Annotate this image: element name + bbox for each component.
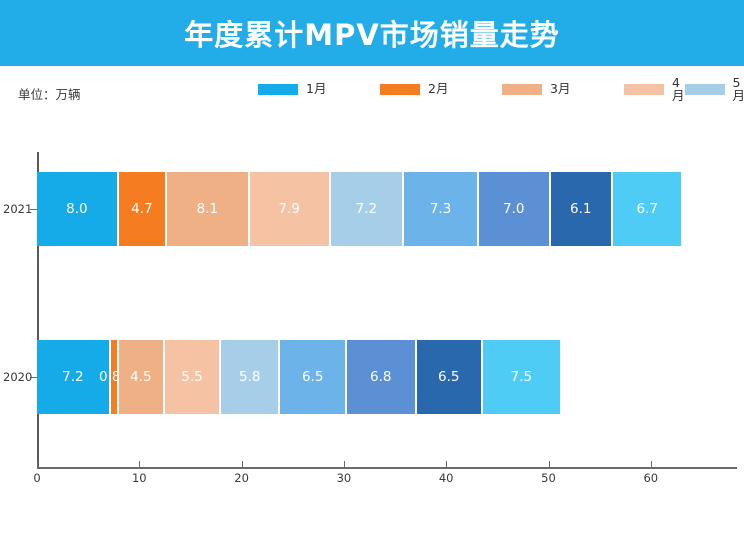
x-axis-tick-label: 10 <box>132 471 147 485</box>
x-axis-tick-label: 60 <box>643 471 658 485</box>
bar-segment-value: 6.8 <box>370 369 391 385</box>
bar-segment[interactable]: 4.5 <box>119 340 165 414</box>
bar-segment-value: 5.5 <box>181 369 202 385</box>
plot-area: 010203040506020212020 8.04.78.17.97.27.3… <box>0 0 744 558</box>
bar-segment[interactable]: 7.3 <box>404 172 479 246</box>
bar-segment-value: 7.0 <box>503 201 524 217</box>
bar-segment-value: 6.5 <box>438 369 459 385</box>
bar-segment[interactable]: 6.1 <box>551 172 613 246</box>
x-axis-tick <box>446 461 447 468</box>
bar-segment[interactable]: 4.7 <box>119 172 167 246</box>
bar-segment-value: 5.8 <box>239 369 260 385</box>
bar-segment[interactable]: 6.5 <box>417 340 483 414</box>
bar-segment-value: 6.5 <box>302 369 323 385</box>
x-axis-tick <box>651 461 652 468</box>
x-axis-tick <box>242 461 243 468</box>
bar-segment-value: 4.7 <box>131 201 152 217</box>
bar-segment-value: 6.1 <box>570 201 591 217</box>
bar-segment-value: 7.9 <box>278 201 299 217</box>
bar-segment[interactable]: 7.0 <box>479 172 551 246</box>
bar-segment[interactable]: 5.8 <box>221 340 280 414</box>
bar-segment[interactable]: 8.0 <box>37 172 119 246</box>
x-axis-tick <box>37 461 38 468</box>
bar-segment[interactable]: 0.8 <box>111 340 119 414</box>
x-axis-tick <box>549 461 550 468</box>
bar-segment[interactable]: 8.1 <box>167 172 250 246</box>
bar-segment-value: 0.8 <box>99 369 120 385</box>
bar-segment-value: 7.3 <box>430 201 451 217</box>
chart-page: 年度累计MPV市场销量走势 单位：万辆 1月2月3月4月5月6月7月8月9月 0… <box>0 0 744 558</box>
bar-segment[interactable]: 7.2 <box>331 172 405 246</box>
x-axis-tick <box>139 461 140 468</box>
bar-segment-value: 7.5 <box>511 369 532 385</box>
x-axis-tick-label: 20 <box>234 471 249 485</box>
bar-segment[interactable]: 6.5 <box>280 340 346 414</box>
bar-segment-value: 6.7 <box>636 201 657 217</box>
bar-segment-value: 8.1 <box>197 201 218 217</box>
bar-row: 8.04.78.17.97.27.37.06.16.7 <box>0 172 744 246</box>
bar-segment-value: 7.2 <box>356 201 377 217</box>
x-axis-tick-label: 30 <box>337 471 352 485</box>
x-axis-tick <box>344 461 345 468</box>
bar-row: 7.20.84.55.55.86.56.86.57.5 <box>0 340 744 414</box>
bar-segment-value: 4.5 <box>130 369 151 385</box>
bar-segment-value: 7.2 <box>62 369 83 385</box>
bar-segment[interactable]: 7.5 <box>483 340 560 414</box>
bar-segment[interactable]: 7.9 <box>250 172 331 246</box>
bar-segment[interactable]: 6.7 <box>613 172 682 246</box>
bar-segment-value: 8.0 <box>66 201 87 217</box>
x-axis-tick-label: 0 <box>33 471 40 485</box>
x-axis-tick-label: 50 <box>541 471 556 485</box>
bar-segment[interactable]: 5.5 <box>165 340 221 414</box>
x-axis-line <box>37 467 737 469</box>
bar-segment[interactable]: 6.8 <box>347 340 417 414</box>
x-axis-tick-label: 40 <box>439 471 454 485</box>
